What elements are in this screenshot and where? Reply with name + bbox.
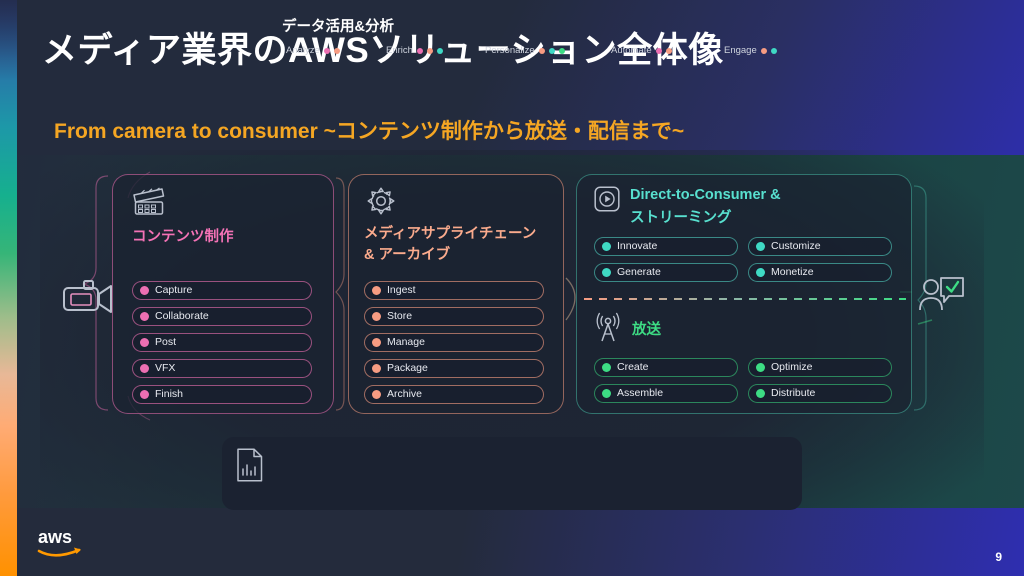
analytics-item-enrich[interactable]: Enrich	[386, 45, 443, 56]
pill-label: Innovate	[617, 241, 657, 252]
pill-dot	[372, 338, 381, 347]
analytics-item-label: Analyze	[286, 45, 320, 56]
analytics-title: データ活用&分析	[282, 15, 394, 36]
pill-dot	[372, 312, 381, 321]
pill-dot	[602, 389, 611, 398]
pill-dot	[140, 286, 149, 295]
pill-innovate[interactable]: Innovate	[594, 237, 738, 256]
pill-dot	[140, 312, 149, 321]
analytics-item-label: Personalize	[485, 45, 535, 56]
analytics-item-personalize[interactable]: Personalize	[485, 45, 565, 56]
analytics-dot	[437, 48, 443, 54]
panel-title-line1: メディアサプライチェーン	[364, 224, 560, 245]
analytics-dot	[666, 48, 672, 54]
panel-title-line2: & アーカイブ	[364, 245, 560, 266]
pill-label: Generate	[617, 267, 661, 278]
pill-generate[interactable]: Generate	[594, 263, 738, 282]
panel-title-direct-to-consumer: Direct-to-Consumer & ストリーミング	[630, 184, 900, 231]
analytics-item-label: Engage	[724, 45, 757, 56]
pill-finish[interactable]: Finish	[132, 385, 312, 404]
pill-label: Store	[387, 311, 412, 322]
analytics-dot	[417, 48, 423, 54]
video-camera-icon	[62, 278, 118, 318]
pill-label: Ingest	[387, 285, 416, 296]
panel-divider-dashed	[584, 298, 906, 300]
analytics-dot	[539, 48, 545, 54]
pill-manage[interactable]: Manage	[364, 333, 544, 352]
pill-optimize[interactable]: Optimize	[748, 358, 892, 377]
pill-monetize[interactable]: Monetize	[748, 263, 892, 282]
pill-label: Post	[155, 337, 176, 348]
analytics-item-automate[interactable]: Automate	[611, 45, 672, 56]
pill-dot	[602, 363, 611, 372]
pill-dot	[372, 364, 381, 373]
svg-text:aws: aws	[38, 527, 72, 547]
analytics-item-label: Enrich	[386, 45, 413, 56]
pill-label: Package	[387, 363, 428, 374]
pill-dot	[140, 390, 149, 399]
analytics-dot	[427, 48, 433, 54]
analytics-item-label: Automate	[611, 45, 652, 56]
pill-dot	[140, 338, 149, 347]
pill-post[interactable]: Post	[132, 333, 312, 352]
pill-label: Archive	[387, 389, 422, 400]
pill-label: Distribute	[771, 388, 815, 399]
broadcast-tower-icon	[594, 312, 622, 342]
gear-icon	[366, 186, 396, 216]
panel-data-analytics[interactable]	[222, 437, 802, 510]
pill-dot	[372, 390, 381, 399]
pill-archive[interactable]: Archive	[364, 385, 544, 404]
pill-create[interactable]: Create	[594, 358, 738, 377]
pill-dot	[756, 242, 765, 251]
pill-dot	[756, 268, 765, 277]
pill-label: VFX	[155, 363, 175, 374]
pill-dot	[372, 286, 381, 295]
aws-logo: aws	[38, 528, 90, 558]
pill-label: Customize	[771, 241, 821, 252]
pill-distribute[interactable]: Distribute	[748, 384, 892, 403]
document-chart-icon	[236, 448, 264, 482]
panel-title-broadcast: 放送	[632, 320, 661, 341]
pill-label: Capture	[155, 285, 192, 296]
page-subtitle: From camera to consumer ~コンテンツ制作から放送・配信ま…	[54, 115, 684, 145]
pill-collaborate[interactable]: Collaborate	[132, 307, 312, 326]
pill-label: Optimize	[771, 362, 812, 373]
pill-dot	[756, 363, 765, 372]
pill-capture[interactable]: Capture	[132, 281, 312, 300]
analytics-dot	[771, 48, 777, 54]
pill-label: Finish	[155, 389, 183, 400]
analytics-dot	[656, 48, 662, 54]
analytics-dot	[549, 48, 555, 54]
consumer-feedback-icon	[918, 276, 966, 320]
analytics-dot	[559, 48, 565, 54]
pill-dot	[602, 268, 611, 277]
pill-customize[interactable]: Customize	[748, 237, 892, 256]
slide-root: メディア業界のAWSソリューション全体像 From camera to cons…	[0, 0, 1024, 576]
pill-assemble[interactable]: Assemble	[594, 384, 738, 403]
panel-title-media-supply-chain: メディアサプライチェーン & アーカイブ	[364, 224, 560, 265]
background-bottom-band	[0, 508, 1024, 576]
pill-package[interactable]: Package	[364, 359, 544, 378]
pill-label: Manage	[387, 337, 425, 348]
pill-label: Collaborate	[155, 311, 209, 322]
play-square-icon	[594, 186, 620, 212]
page-number: 9	[995, 550, 1002, 564]
pill-dot	[602, 242, 611, 251]
pill-label: Monetize	[771, 267, 814, 278]
pill-vfx[interactable]: VFX	[132, 359, 312, 378]
pill-dot	[140, 364, 149, 373]
pill-label: Create	[617, 362, 649, 373]
panel-title-line1: Direct-to-Consumer &	[630, 184, 900, 207]
pill-ingest[interactable]: Ingest	[364, 281, 544, 300]
clapperboard-icon	[132, 186, 166, 216]
analytics-dot	[324, 48, 330, 54]
panel-title-line2: ストリーミング	[630, 207, 900, 230]
analytics-dot	[761, 48, 767, 54]
pill-dot	[756, 389, 765, 398]
pill-store[interactable]: Store	[364, 307, 544, 326]
pill-label: Assemble	[617, 388, 663, 399]
analytics-item-engage[interactable]: Engage	[724, 45, 777, 56]
left-gradient-strip-fade	[0, 0, 17, 576]
analytics-dot	[334, 48, 340, 54]
analytics-item-analyze[interactable]: Analyze	[286, 45, 340, 56]
panel-title-content-production: コンテンツ制作	[132, 227, 312, 248]
